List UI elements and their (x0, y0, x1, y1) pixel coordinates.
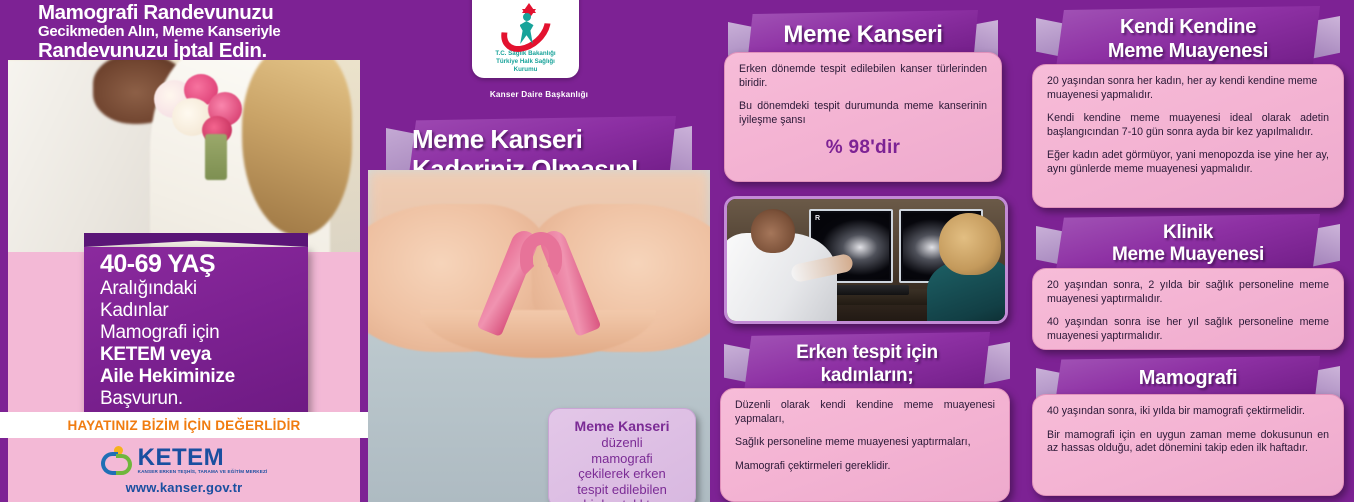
age-box-top-fold (84, 233, 308, 247)
banner-klinik-line1: Klinik (1056, 222, 1320, 244)
value-strip-text: HAYATINIZ BİZİM İÇİN DEĞERLİDİR (68, 418, 301, 433)
banner-klinik-title: Klinik Meme Muayenesi (1056, 214, 1320, 266)
value-strip: HAYATINIZ BİZİM İÇİN DEĞERLİDİR (0, 412, 368, 438)
center-note-card: Meme Kanseri düzenli mamografi çekilerek… (548, 408, 696, 502)
banner-kendi-line1: Kendi Kendine (1056, 15, 1320, 39)
age-box-body: 40-69 YAŞ Aralığındaki Kadınlar Mamograf… (84, 247, 308, 422)
age-box-line7: Başvurun. (100, 388, 296, 410)
ketem-figure-icon (101, 446, 135, 476)
card-meme-p2: Bu dönemdeki tespit durumunda meme kanse… (739, 100, 987, 127)
banner-kendi-line2: Meme Muayenesi (1056, 39, 1320, 63)
banner-erken-line1: Erken tespit için (744, 341, 990, 364)
center-note-line3: mamografi (559, 451, 685, 467)
center-note-line6: bir hastalıktır. (559, 497, 685, 502)
ministry-emblem-icon (494, 4, 558, 48)
age-box-line4: Mamografi için (100, 322, 296, 344)
ketem-logo-zone: KETEM KANSER ERKEN TEŞHİS, TARAMA VE EĞİ… (8, 438, 360, 502)
photo-bouquet-stems (205, 134, 227, 180)
person-figure-icon (516, 13, 538, 45)
photo-doctor-head (751, 209, 795, 253)
age-box-big: 40-69 YAŞ (100, 251, 296, 278)
card-kendi-p3: Eğer kadın adet görmüyor, yani menopozda… (1047, 149, 1329, 176)
card-meme-p1: Erken dönemde tespit edilebilen kanser t… (739, 63, 987, 90)
ministry-of-health-logo-card: T.C. Sağlık Bakanlığı Türkiye Halk Sağlı… (472, 0, 579, 78)
banner-erken-line2: kadınların; (744, 364, 990, 387)
center-note-line4: çekilerek erken (559, 466, 685, 482)
card-klinik-p1: 20 yaşından sonra, 2 yılda bir sağlık pe… (1047, 279, 1329, 306)
right-area: Meme Kanseri Erken dönemde tespit edileb… (710, 0, 1354, 502)
breast-cancer-awareness-poster: Mamografi Randevunuzu Gecikmeden Alın, M… (0, 0, 1354, 502)
card-kendi-kendine: 20 yaşından sonra her kadın, her ay kend… (1032, 64, 1344, 208)
age-box-line3: Kadınlar (100, 300, 296, 322)
center-banner-line1: Meme Kanseri (412, 124, 678, 154)
left-headline-line2: Gecikmeden Alın, Meme Kanseriyle (38, 23, 360, 40)
left-headline-line1: Mamografi Randevunuzu (38, 2, 360, 23)
banner-kendi-kendine: Kendi Kendine Meme Muayenesi (1036, 6, 1340, 72)
card-mamografi: 40 yaşından sonra, iki yılda bir mamogra… (1032, 394, 1344, 496)
photo-patient-hair (939, 213, 1001, 275)
card-meme-kanseri: Erken dönemde tespit edilebilen kanser t… (724, 52, 1002, 182)
left-headline: Mamografi Randevunuzu Gecikmeden Alın, M… (0, 0, 368, 57)
left-panel: Mamografi Randevunuzu Gecikmeden Alın, M… (0, 0, 368, 502)
mammography-photo: R L (724, 196, 1008, 324)
ketem-url[interactable]: www.kanser.gov.tr (126, 480, 243, 495)
ketem-wordmark: KETEM (138, 447, 268, 469)
ministry-caption: Kanser Daire Başkanlığı (368, 90, 710, 99)
ministry-logo-line3: Kurumu (514, 66, 538, 74)
card-erken-p3: Mamografi çektirmeleri gereklidir. (735, 460, 995, 474)
photo-bouquet (150, 74, 270, 154)
card-mamografi-p2: Bir mamografi için en uygun zaman meme d… (1047, 429, 1329, 456)
banner-klinik-muayene: Klinik Meme Muayenesi (1036, 214, 1340, 274)
survival-percentage: % 98'dir (739, 137, 987, 159)
banner-erken-tespit: Erken tespit için kadınların; (724, 332, 1010, 396)
ministry-logo-line1: T.C. Sağlık Bakanlığı (495, 50, 555, 58)
pink-ribbon-icon (490, 232, 588, 352)
center-panel: T.C. Sağlık Bakanlığı Türkiye Halk Sağlı… (368, 0, 710, 502)
card-klinik-muayene: 20 yaşından sonra, 2 yılda bir sağlık pe… (1032, 268, 1344, 350)
center-note-line5: tespit edilebilen (559, 482, 685, 498)
center-note-title: Meme Kanseri (559, 417, 685, 435)
banner-kendi-kendine-title: Kendi Kendine Meme Muayenesi (1056, 6, 1320, 63)
age-box-line5: KETEM veya (100, 344, 296, 366)
card-erken-p2: Sağlık personeline meme muayenesi yaptır… (735, 436, 995, 450)
card-mamografi-p1: 40 yaşından sonra, iki yılda bir mamogra… (1047, 405, 1329, 419)
card-erken-p1: Düzenli olarak kendi kendine meme muayen… (735, 399, 995, 426)
card-kendi-p1: 20 yaşından sonra her kadın, her ay kend… (1047, 75, 1329, 102)
star-icon (522, 3, 536, 13)
center-note-line2: düzenli (559, 435, 685, 451)
age-box-line6: Aile Hekiminize (100, 366, 296, 388)
card-kendi-p2: Kendi kendine meme muayenesi ideal olara… (1047, 112, 1329, 139)
ministry-logo-line2: Türkiye Halk Sağlığı (496, 58, 555, 66)
ketem-subtitle: KANSER ERKEN TEŞHİS, TARAMA VE EĞİTİM ME… (138, 469, 268, 474)
mammogram-label-left: R (815, 215, 820, 222)
banner-erken-tespit-title: Erken tespit için kadınların; (744, 332, 990, 387)
left-headline-line3: Randevunuzu İptal Edin. (38, 40, 360, 61)
card-klinik-p2: 40 yaşından sonra ise her yıl sağlık per… (1047, 316, 1329, 343)
age-box-line2: Aralığındaki (100, 278, 296, 300)
banner-klinik-line2: Meme Muayenesi (1056, 244, 1320, 266)
ketem-logo: KETEM KANSER ERKEN TEŞHİS, TARAMA VE EĞİ… (101, 446, 268, 476)
card-erken-tespit: Düzenli olarak kendi kendine meme muayen… (720, 388, 1010, 502)
